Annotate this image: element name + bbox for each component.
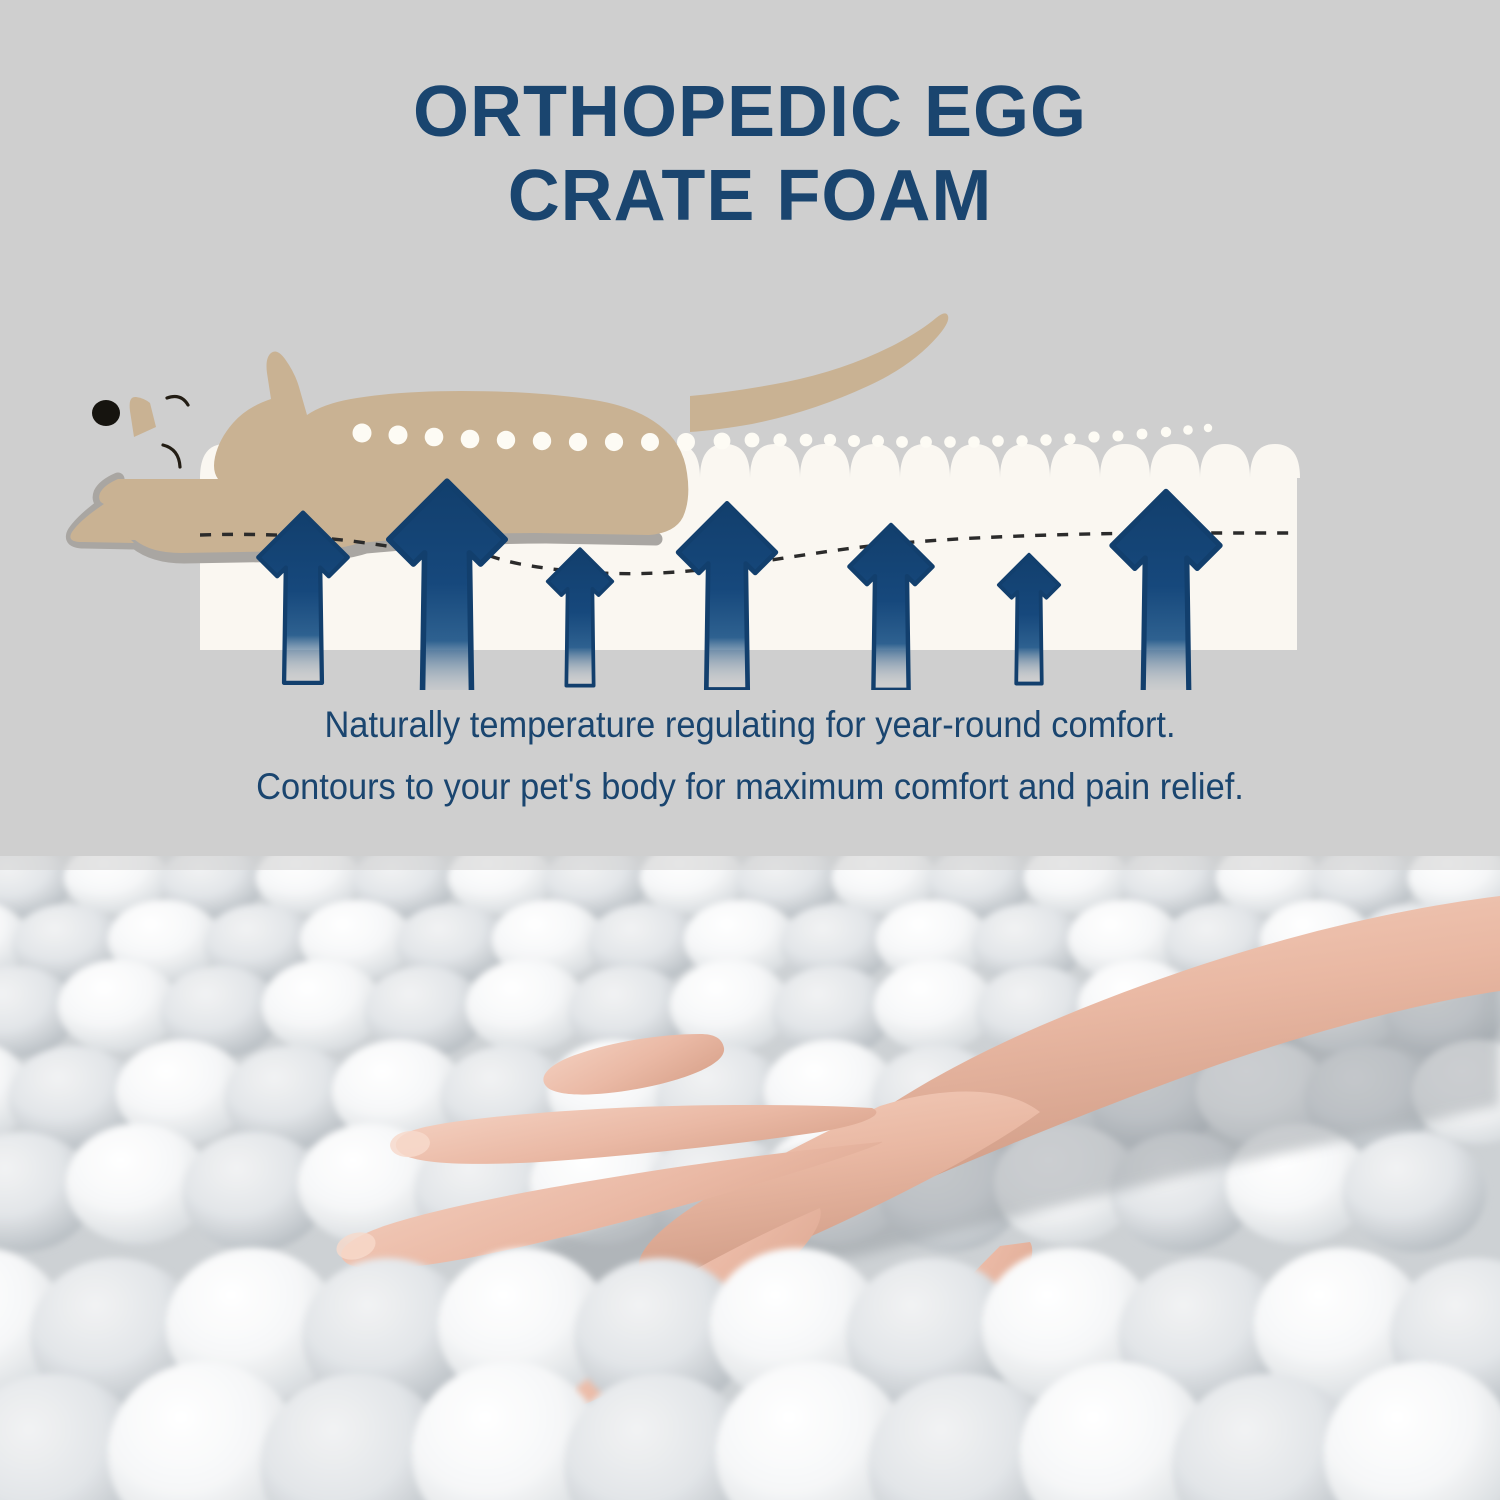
dog-tail — [690, 313, 948, 432]
headline-line-1: ORTHOPEDIC EGG — [0, 70, 1500, 154]
dog-mouth-icon — [163, 445, 180, 467]
dog-eye-icon — [167, 397, 188, 405]
foam-support-diagram — [0, 300, 1500, 690]
page-title: ORTHOPEDIC EGG CRATE FOAM — [0, 70, 1500, 238]
benefit-line-1: Naturally temperature regulating for yea… — [53, 694, 1448, 756]
photo-top-blend — [0, 856, 1500, 870]
benefit-line-2: Contours to your pet's body for maximum … — [53, 756, 1448, 818]
dog-body — [74, 351, 688, 553]
benefit-copy: Naturally temperature regulating for yea… — [53, 694, 1448, 818]
dog-ear — [130, 397, 156, 437]
dog-nose-icon — [92, 400, 120, 426]
product-photo — [0, 856, 1500, 1500]
photo-svg — [0, 856, 1500, 1500]
egg-crate-foam-foreground — [0, 1248, 1500, 1500]
diagram-svg — [0, 300, 1500, 690]
product-infographic: ORTHOPEDIC EGG CRATE FOAM — [0, 0, 1500, 1500]
headline-line-2: CRATE FOAM — [0, 154, 1500, 238]
info-panel: ORTHOPEDIC EGG CRATE FOAM — [0, 0, 1500, 856]
